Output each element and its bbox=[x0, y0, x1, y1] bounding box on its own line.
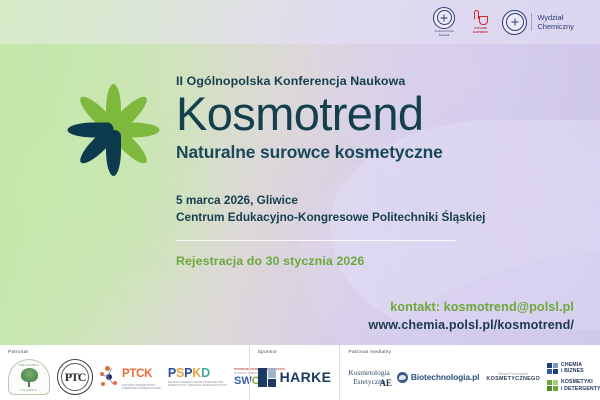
media-label: Patronat medialny bbox=[348, 350, 597, 355]
conference-subtitle: Naturalne surowce kosmetyczne bbox=[176, 142, 576, 163]
divider-rule bbox=[176, 240, 456, 241]
wydzial-chemiczny-logo: Wydział Chemiczny bbox=[502, 10, 574, 35]
tree-crown-shape bbox=[21, 368, 38, 382]
footer-section-sponsor: Sponsor HARKE bbox=[249, 345, 340, 400]
info-block: 5 marca 2026, Gliwice Centrum Edukacyjno… bbox=[176, 192, 576, 268]
biotechnologia-wordmark: Biotechnologia.pl bbox=[411, 373, 480, 381]
biotechnologia-pl-logo-icon: Biotechnologia.pl bbox=[397, 372, 480, 383]
headline-block: II Ogólnopolska Konferencja Naukowa Kosm… bbox=[176, 74, 576, 163]
wydzial-line-2: Chemiczny bbox=[537, 22, 574, 31]
tree-logo-arc-text: ZIELARSKA bbox=[19, 363, 39, 367]
pspkd-letter-p1: P bbox=[168, 366, 176, 380]
kosmetyki-line-1: KOSMETYKI bbox=[561, 379, 600, 386]
chemia-i-biznes-text: CHEMIA i BIZNES bbox=[561, 362, 584, 375]
date-city-line: 5 marca 2026, Gliwice bbox=[176, 192, 576, 209]
patronat-logo-row: ZIELARSKA PHARMA PTC bbox=[8, 358, 241, 396]
media-logo-row: Kosmetologia Estetyczna AE Biotechnologi… bbox=[348, 358, 597, 396]
swiat-przemyslu-kosmetycznego-logo-icon: Świat Przemysłu KOSMETYCZNEGO bbox=[486, 372, 540, 383]
sponsor-label: Sponsor bbox=[258, 350, 332, 355]
contact-email[interactable]: kontakt: kosmotrend@polsl.pl bbox=[368, 300, 574, 314]
kosmetyki-i-detergenty-logo-icon: KOSMETYKI i DETERGENTY bbox=[547, 379, 600, 392]
footer-logo-bar: Patronat ZIELARSKA PHARMA PTC bbox=[0, 345, 600, 400]
kosmetologia-ae-mark: AE bbox=[379, 378, 392, 388]
ptck-logo-icon: PTCK POLSKIE TOWARZYSTWOCHEMIKÓW KOSMETO… bbox=[100, 364, 161, 390]
kosmetyki-squares-icon bbox=[547, 380, 558, 391]
ptck-subtext: POLSKIE TOWARZYSTWOCHEMIKÓW KOSMETOLOGÓW bbox=[122, 384, 161, 391]
ptck-molecule-icon bbox=[100, 366, 119, 388]
politechnika-slaska-logo: PolitechnikaŚląska bbox=[429, 7, 459, 38]
pspkd-letter-k: K bbox=[192, 366, 201, 380]
footer-section-media: Patronat medialny Kosmetologia Estetyczn… bbox=[339, 345, 600, 400]
harke-wordmark: HARKE bbox=[280, 370, 332, 384]
footer-section-patronat: Patronat ZIELARSKA PHARMA PTC bbox=[0, 345, 249, 400]
wydzial-chemiczny-text: Wydział Chemiczny bbox=[531, 13, 574, 31]
biotechnologia-circle-shape bbox=[397, 372, 408, 383]
tree-logo-foot-text: PHARMA bbox=[20, 389, 37, 392]
ptc-logo-icon: PTC bbox=[57, 359, 93, 395]
ptck-text-block: PTCK POLSKIE TOWARZYSTWOCHEMIKÓW KOSMETO… bbox=[122, 364, 161, 390]
kosmetologia-estetyczna-logo-icon: Kosmetologia Estetyczna AE bbox=[348, 369, 389, 385]
kosmetyki-i-detergenty-text: KOSMETYKI i DETERGENTY bbox=[561, 379, 600, 392]
ptck-acronym: PTCK bbox=[122, 368, 152, 380]
conference-kicker: II Ogólnopolska Konferencja Naukowa bbox=[176, 74, 576, 88]
conference-website-url[interactable]: www.chemia.polsl.pl/kosmotrend/ bbox=[368, 318, 574, 332]
pspkd-logo-icon: PSPKD POLSKIE STOWARZYSZENIE PRODUCENTÓW… bbox=[168, 367, 227, 388]
kosmetologia-line-1: Kosmetologia bbox=[348, 369, 389, 376]
szczeni-barwniki-logo: SZCZENIBARWNIKI bbox=[473, 10, 488, 34]
pharmaceutical-tree-logo-icon: ZIELARSKA PHARMA bbox=[8, 359, 50, 395]
pspkd-letter-s: S bbox=[176, 366, 184, 380]
top-logo-strip: PolitechnikaŚląska SZCZENIBARWNIKI Wydzi… bbox=[0, 0, 600, 44]
pspkd-acronym: PSPKD bbox=[168, 367, 227, 380]
harke-mark-shape bbox=[258, 368, 276, 387]
chemia-line-1: CHEMIA bbox=[561, 362, 584, 369]
kosmotrend-flower-logo-icon bbox=[56, 74, 170, 186]
szczeni-barwniki-caption: SZCZENIBARWNIKI bbox=[473, 27, 488, 34]
faculty-seal-icon bbox=[502, 10, 527, 35]
contact-block: kontakt: kosmotrend@polsl.pl www.chemia.… bbox=[368, 300, 574, 332]
kosmetyki-line-2: i DETERGENTY bbox=[561, 386, 600, 393]
wydzial-line-1: Wydział bbox=[537, 13, 574, 22]
chemia-squares-icon bbox=[547, 363, 558, 374]
conference-poster: PolitechnikaŚląska SZCZENIBARWNIKI Wydzi… bbox=[0, 0, 600, 400]
chemia-kosmetyki-logo-group: CHEMIA i BIZNES KOSMETYKI i DETERGENTY bbox=[547, 362, 600, 393]
pspkd-subtext: POLSKIE STOWARZYSZENIE PRODUCENTÓWKOSMET… bbox=[168, 381, 227, 388]
swiat-line-2: KOSMETYCZNEGO bbox=[486, 376, 540, 382]
page-title: Kosmotrend bbox=[176, 90, 576, 138]
chemia-i-biznes-logo-icon: CHEMIA i BIZNES bbox=[547, 362, 600, 375]
ptc-monogram: PTC bbox=[65, 370, 85, 385]
politechnika-slaska-caption: PolitechnikaŚląska bbox=[429, 30, 459, 38]
venue-line: Centrum Edukacyjno-Kongresowe Politechni… bbox=[176, 209, 576, 226]
sponsor-logo-row: HARKE bbox=[258, 358, 332, 396]
red-b-mark-icon bbox=[473, 10, 488, 26]
university-seal-icon bbox=[433, 7, 455, 29]
pspkd-letter-d: D bbox=[201, 366, 210, 380]
chemia-line-2: i BIZNES bbox=[561, 368, 584, 375]
patronat-label: Patronat bbox=[8, 350, 241, 355]
registration-deadline: Rejestracja do 30 stycznia 2026 bbox=[176, 254, 576, 268]
harke-logo-icon: HARKE bbox=[258, 368, 332, 387]
